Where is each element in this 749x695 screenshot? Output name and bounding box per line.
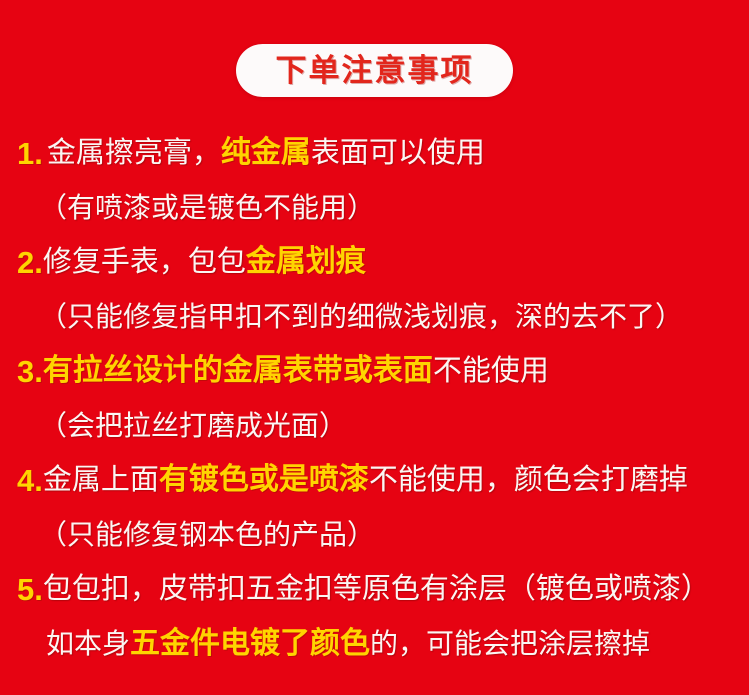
notice-number: 2. xyxy=(17,247,43,278)
body-text: 不能使用，颜色会打磨掉 xyxy=(369,466,688,495)
notice-sub-line: 如本身五金件电镀了颜色的，可能会把涂层擦掉 xyxy=(0,616,749,671)
body-text: 不能使用 xyxy=(433,357,549,386)
notice-sub-text: （会把拉丝打磨成光面） xyxy=(39,412,347,440)
notice-sub-text: （只能修复指甲扣不到的细微浅划痕，深的去不了） xyxy=(39,303,683,331)
body-text: 金属擦亮膏， xyxy=(47,139,221,168)
highlight-text: 金属划痕 xyxy=(246,247,366,277)
notice-sub-line: （有喷漆或是镀色不能用） xyxy=(0,180,749,235)
notice-number: 3. xyxy=(17,356,43,387)
notice-list: 1.金属擦亮膏，纯金属表面可以使用（有喷漆或是镀色不能用）2.修复手表，包包金属… xyxy=(0,126,749,671)
notice-sub-text: （只能修复钢本色的产品） xyxy=(39,521,375,549)
notice-main-line: 5.包包扣，皮带扣五金扣等原色有涂层（镀色或喷漆） xyxy=(0,562,749,616)
notice-item: 1.金属擦亮膏，纯金属表面可以使用（有喷漆或是镀色不能用） xyxy=(0,126,749,235)
notice-main-line: 2.修复手表，包包金属划痕 xyxy=(0,235,749,289)
notice-main-line: 1.金属擦亮膏，纯金属表面可以使用 xyxy=(0,126,749,180)
title-pill: 下单注意事项 xyxy=(236,44,513,97)
notice-main-line: 3.有拉丝设计的金属表带或表面不能使用 xyxy=(0,344,749,398)
highlight-text: 纯金属 xyxy=(221,138,311,168)
notice-sub-text: （有喷漆或是镀色不能用） xyxy=(39,194,375,222)
notice-number: 5. xyxy=(17,574,43,605)
page-title: 下单注意事项 xyxy=(276,55,474,86)
body-text: 修复手表，包包 xyxy=(43,248,246,277)
notice-sub-line: （会把拉丝打磨成光面） xyxy=(0,398,749,453)
body-text: 金属上面 xyxy=(43,466,159,495)
highlight-text: 有镀色或是喷漆 xyxy=(159,465,369,495)
highlight-text: 五金件电镀了颜色 xyxy=(130,629,370,659)
body-text: 包包扣，皮带扣五金扣等原色有涂层（镀色或喷漆） xyxy=(43,575,710,604)
body-text: 如本身 xyxy=(46,630,130,658)
body-text: 的，可能会把涂层擦掉 xyxy=(370,630,650,658)
notice-number: 1. xyxy=(17,138,43,169)
notice-main-line: 4.金属上面有镀色或是喷漆不能使用，颜色会打磨掉 xyxy=(0,453,749,507)
notice-item: 4.金属上面有镀色或是喷漆不能使用，颜色会打磨掉（只能修复钢本色的产品） xyxy=(0,453,749,562)
header-banner: 下单注意事项 xyxy=(0,44,749,97)
notice-item: 3.有拉丝设计的金属表带或表面不能使用（会把拉丝打磨成光面） xyxy=(0,344,749,453)
highlight-text: 有拉丝设计的金属表带或表面 xyxy=(43,356,433,386)
notice-sub-line: （只能修复指甲扣不到的细微浅划痕，深的去不了） xyxy=(0,289,749,344)
notice-item: 2.修复手表，包包金属划痕（只能修复指甲扣不到的细微浅划痕，深的去不了） xyxy=(0,235,749,344)
notice-sub-line: （只能修复钢本色的产品） xyxy=(0,507,749,562)
notice-item: 5.包包扣，皮带扣五金扣等原色有涂层（镀色或喷漆）如本身五金件电镀了颜色的，可能… xyxy=(0,562,749,671)
body-text: 表面可以使用 xyxy=(311,139,485,168)
notice-number: 4. xyxy=(17,465,43,496)
